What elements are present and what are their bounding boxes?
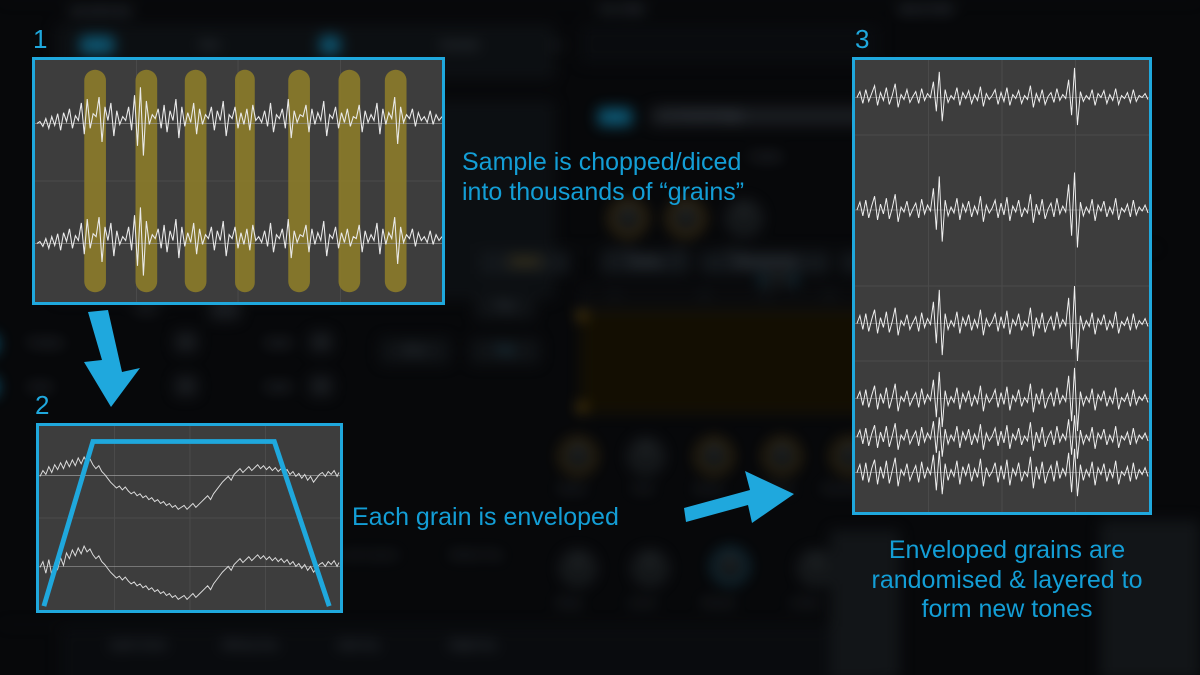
source-toggle-1[interactable] (320, 36, 340, 54)
lfo-depth-1: Depth (265, 338, 292, 349)
mini-button-1-label: Play (475, 301, 535, 312)
mini-button-2[interactable]: Mono (380, 338, 450, 364)
divider-bottom (0, 624, 880, 625)
arrow-sample-to-envelope (78, 310, 158, 408)
preset-bar (60, 628, 880, 675)
lfo-amount-1[interactable] (175, 332, 197, 352)
sample-waveform-grains-panel[interactable] (32, 57, 445, 305)
fx-knob-limiter-label: Limiter (790, 598, 820, 609)
seq-step-3: 3 (764, 290, 770, 301)
source-tag-1[interactable] (80, 36, 114, 54)
fx-knob-limiter[interactable] (798, 550, 834, 586)
grain-envelope-panel[interactable] (36, 423, 343, 613)
grain-knob-hold[interactable] (628, 438, 664, 474)
tab-sequencer[interactable]: SEQUENCER (700, 252, 830, 274)
mini-button-1[interactable]: Play (475, 294, 535, 320)
fx-knob-delay[interactable] (560, 550, 596, 586)
seq-handle-top[interactable] (578, 312, 585, 319)
grain-envelope-svg (39, 426, 340, 610)
mini-button-2-label: Mono (380, 345, 450, 356)
preset-button-3[interactable]: Dark Key (338, 640, 379, 651)
misc-label-1: Lorem Ipsum (340, 550, 398, 561)
tab-grain[interactable]: GRAIN (480, 252, 570, 274)
fx-knob-lorem[interactable] (632, 550, 668, 586)
arrow-envelope-to-layered (684, 468, 796, 526)
annotation-chopped: Sample is chopped/diced into thousands o… (462, 148, 772, 207)
section-title-sources: SOURCES (70, 6, 133, 18)
source-extra-1: ◂ ▸ (550, 40, 563, 51)
tab-grain-label: GRAIN (480, 257, 570, 268)
preset-button-4[interactable]: Bright Key (450, 640, 496, 651)
tab-sequencer-label: SEQUENCER (700, 257, 830, 268)
grain-knob-attack-label: Attack (558, 484, 586, 495)
divider (0, 0, 1200, 1)
tab-noise-label: NOISE (600, 257, 690, 268)
lfo-depth-val-2[interactable] (310, 376, 332, 396)
misc-label-2: Mellow Pop (450, 550, 502, 561)
fx-knob-reverb-label: Reverb (702, 598, 734, 609)
source-mode-1: Granular (440, 40, 479, 51)
fx-knob-delay-label: Delay (556, 598, 582, 609)
preset-button-2[interactable]: Whimsy Key (222, 640, 278, 651)
lfo-depth-val-1[interactable] (310, 332, 332, 352)
callout-number-3: 3 (855, 26, 869, 52)
lfo-target-1: Position (28, 338, 64, 349)
annotation-enveloped: Each grain is enveloped (352, 503, 619, 533)
mini-button-3[interactable]: Poly (470, 338, 540, 364)
lfo-depth-2: Depth (265, 382, 292, 393)
filter-tag[interactable] (598, 108, 632, 126)
tab-noise[interactable]: NOISE (600, 252, 690, 274)
callout-number-1: 1 (33, 26, 47, 52)
source-name-1: Rise (200, 40, 220, 51)
preset-button-1[interactable]: Synth Chord (110, 640, 166, 651)
seq-step-1: 1 (612, 290, 618, 301)
layered-grains-panel[interactable] (852, 57, 1152, 515)
section-title-master: MASTER (900, 4, 954, 16)
sample-waveform-grains-svg (35, 60, 442, 302)
grain-knob-attack[interactable] (560, 438, 596, 474)
mini-button-3-label: Poly (470, 345, 540, 356)
grain-knob-hold-label: Hold (632, 484, 653, 495)
filter-header (580, 24, 880, 64)
callout-number-2: 2 (35, 392, 49, 418)
seq-step-4: 4 (826, 290, 832, 301)
layered-grains-svg (855, 60, 1149, 512)
lfo-amount-2[interactable] (175, 376, 197, 396)
seq-step-2: 2 (702, 290, 708, 301)
fx-knob-reverb[interactable] (712, 548, 748, 584)
seq-handle-bottom[interactable] (578, 404, 585, 411)
fx-knob-lorem-label: Lorem (628, 598, 656, 609)
filter-preset-label: LP Smooth Boggy (662, 110, 742, 121)
annotation-layered: Enveloped grains are randomised & layere… (862, 536, 1152, 625)
section-title-filter: FILTER (600, 4, 645, 16)
